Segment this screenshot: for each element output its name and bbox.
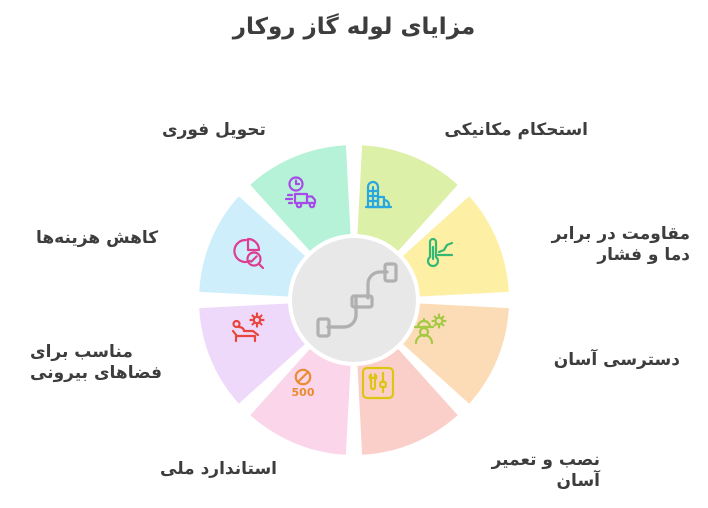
label-suitable-outdoor-spaces: مناسب برای فضاهای بیرونی (30, 342, 210, 383)
label-temperature-pressure-resistance: مقاومت در برابر دما و فشار (500, 224, 690, 265)
label-national-standard: استاندارد ملی (160, 459, 350, 480)
benefits-wheel-diagram: 500 (174, 130, 534, 470)
page-title: مزایای لوله گاز روکار (0, 14, 708, 40)
center-disc (292, 238, 416, 362)
label-cost-reduction: کاهش هزینه‌ها (36, 228, 226, 249)
label-easy-install-repair: نصب و تعمیر آسان (410, 450, 600, 491)
label-easy-access: دسترسی آسان (490, 350, 680, 371)
label-fast-delivery: تحویل فوری (162, 120, 352, 141)
label-mechanical-strength: استحکام مکانیکی (388, 120, 588, 141)
